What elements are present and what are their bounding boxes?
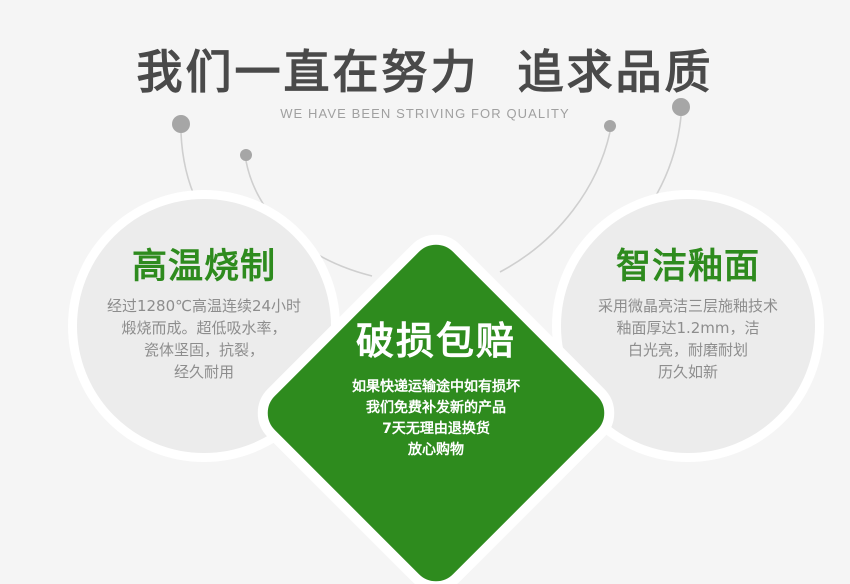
dot-inner-left-icon — [240, 149, 252, 161]
feature-center-title: 破损包赔 — [356, 319, 516, 363]
feature-right-title: 智洁釉面 — [616, 247, 760, 287]
feature-center-body: 如果快递运输途中如有损坏 我们免费补发新的产品 7天无理由退换货 放心购物 — [352, 377, 520, 461]
feature-right-body: 采用微晶亮洁三层施釉技术 釉面厚达1.2mm，洁 白光亮，耐磨耐划 历久如新 — [592, 295, 784, 383]
feature-left-title: 高温烧制 — [132, 247, 276, 287]
banner-header: 我们一直在努力 追求品质 WE HAVE BEEN STRIVING FOR Q… — [0, 46, 850, 122]
diamond-content: 破损包赔 如果快递运输途中如有损坏 我们免费补发新的产品 7天无理由退换货 放心… — [300, 277, 572, 549]
feature-left-body: 经过1280℃高温连续24小时 煅烧而成。超低吸水率， 瓷体坚固，抗裂， 经久耐… — [101, 295, 307, 383]
page-subtitle: WE HAVE BEEN STRIVING FOR QUALITY — [0, 106, 850, 122]
page-title: 我们一直在努力 追求品质 — [0, 46, 850, 98]
promo-banner: 我们一直在努力 追求品质 WE HAVE BEEN STRIVING FOR Q… — [0, 0, 850, 584]
feature-diamond-center: 破损包赔 如果快递运输途中如有损坏 我们免费补发新的产品 7天无理由退换货 放心… — [300, 277, 572, 549]
